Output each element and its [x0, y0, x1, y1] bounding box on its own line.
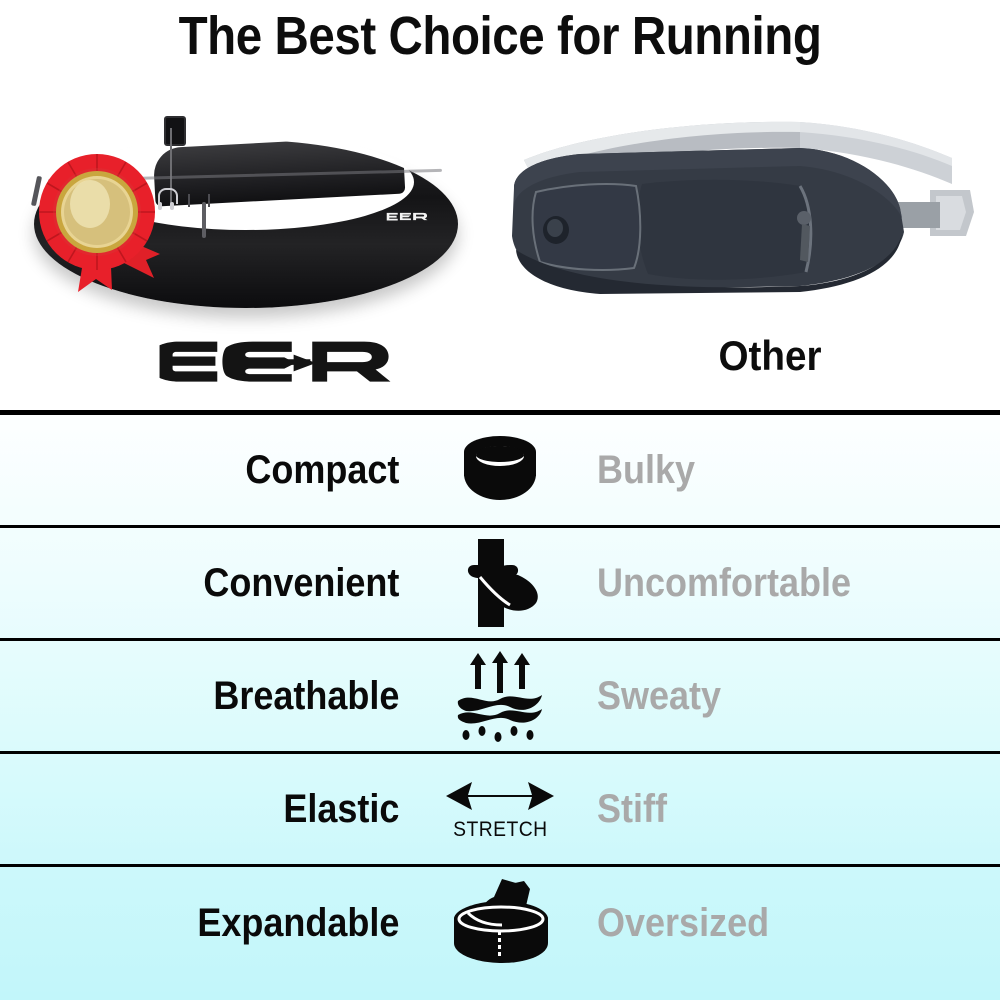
belt-ring-icon [446, 430, 554, 510]
other-feature-label: Stiff [570, 787, 957, 832]
table-row: Convenient Uncomfortable [0, 528, 1000, 641]
other-feature-label: Oversized [570, 901, 957, 946]
feature-icon-cell: STRETCH [430, 776, 570, 842]
award-rosette-icon [26, 140, 172, 300]
table-row: Expandable [0, 867, 1000, 980]
other-feature-label: Sweaty [570, 674, 957, 719]
other-feature-label: Uncomfortable [570, 561, 957, 606]
esr-running-belt-image [18, 110, 478, 310]
double-arrow-icon [442, 776, 558, 816]
other-fanny-pack-image [500, 100, 980, 320]
brand-labels-row: Other [0, 330, 1000, 400]
feature-icon-cell [430, 875, 570, 973]
esr-feature-label: Elastic [43, 787, 430, 832]
belt-stitch [188, 194, 190, 207]
other-brand-label: Other [632, 332, 908, 380]
esr-feature-label: Convenient [43, 561, 430, 606]
belt-strap-loop-icon [446, 537, 554, 629]
feature-icon-cell [430, 649, 570, 743]
esr-logo-small-icon [386, 210, 430, 223]
stretch-caption: STRETCH [453, 818, 547, 842]
table-row: Elastic STRETCH Stiff [0, 754, 1000, 867]
feature-icon-cell [430, 537, 570, 629]
infographic-page: The Best Choice for Running [0, 0, 1000, 1000]
belt-front-zipper [202, 202, 206, 238]
table-row: Compact Bulky [0, 415, 1000, 528]
esr-logo-icon [150, 336, 400, 390]
page-title: The Best Choice for Running [60, 8, 940, 65]
feature-icon-cell [430, 430, 570, 510]
table-row: Breathable [0, 641, 1000, 754]
belt-stitch [208, 194, 210, 207]
esr-feature-label: Breathable [43, 674, 430, 719]
expandable-pouch-icon [444, 875, 556, 973]
esr-feature-label: Compact [43, 448, 430, 493]
esr-feature-label: Expandable [43, 901, 430, 946]
comparison-table: Compact Bulky Convenient [0, 410, 1000, 1000]
other-feature-label: Bulky [570, 448, 957, 493]
airflow-arrows-icon [444, 649, 556, 743]
